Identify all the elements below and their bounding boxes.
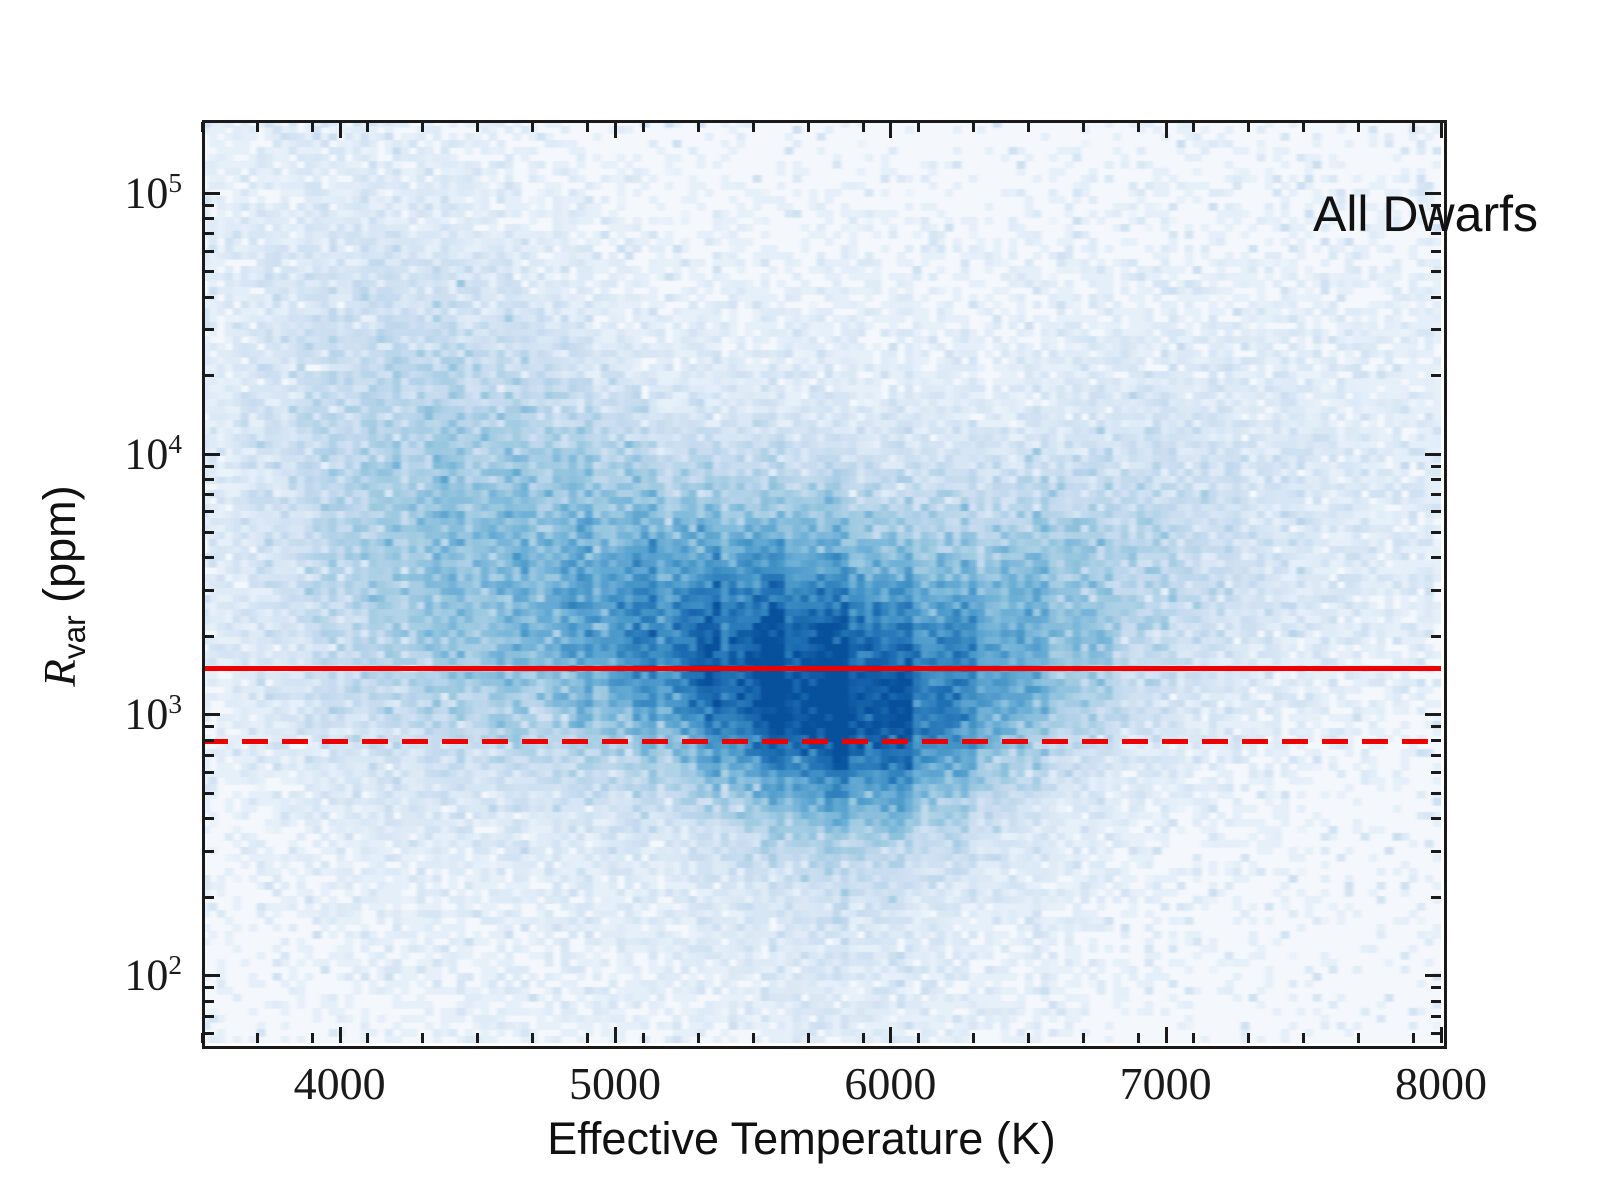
x-tick-major xyxy=(339,1027,342,1043)
y-tick-minor-right xyxy=(1431,478,1441,481)
y-tick-minor-right xyxy=(1431,817,1441,820)
y-tick-minor xyxy=(204,478,214,481)
y-tick-minor xyxy=(204,296,214,299)
y-axis-title-symbol: R xyxy=(35,659,85,687)
x-tick-minor-top xyxy=(201,122,204,132)
x-tick-label: 8000 xyxy=(1395,1057,1487,1110)
y-tick-minor xyxy=(204,250,214,253)
x-tick-minor xyxy=(1412,1033,1415,1043)
x-tick-minor xyxy=(1137,1033,1140,1043)
x-tick-minor xyxy=(642,1033,645,1043)
y-tick-minor xyxy=(204,1000,214,1003)
x-tick-major-top xyxy=(1440,122,1443,138)
y-tick-minor xyxy=(204,986,214,989)
x-tick-minor-top xyxy=(917,122,920,132)
y-tick-major xyxy=(204,974,220,977)
y-tick-minor xyxy=(204,771,214,774)
all-dwarfs-annotation: All Dwarfs xyxy=(1313,185,1538,243)
x-tick-minor-top xyxy=(531,122,534,132)
y-tick-minor-right xyxy=(1431,465,1441,468)
x-tick-major xyxy=(1165,1027,1168,1043)
x-tick-minor xyxy=(311,1033,314,1043)
plot-area xyxy=(202,120,1441,1043)
y-tick-minor xyxy=(204,850,214,853)
y-tick-minor xyxy=(204,465,214,468)
x-tick-minor-top xyxy=(1302,122,1305,132)
x-tick-major xyxy=(1440,1027,1443,1043)
y-tick-minor xyxy=(204,531,214,534)
x-tick-minor xyxy=(1247,1033,1250,1043)
x-tick-minor-top xyxy=(1027,122,1030,132)
y-tick-minor xyxy=(204,493,214,496)
y-tick-minor-right xyxy=(1431,1000,1441,1003)
x-tick-minor-top xyxy=(697,122,700,132)
x-tick-minor xyxy=(531,1033,534,1043)
y-tick-minor xyxy=(204,232,214,235)
y-tick-label: 103 xyxy=(2,689,182,740)
x-tick-minor-top xyxy=(972,122,975,132)
x-axis-title: Effective Temperature (K) xyxy=(0,1113,1603,1165)
y-tick-minor-right xyxy=(1431,589,1441,592)
x-tick-minor xyxy=(752,1033,755,1043)
x-tick-minor-top xyxy=(1192,122,1195,132)
y-tick-minor xyxy=(204,270,214,273)
x-tick-minor-top xyxy=(1357,122,1360,132)
y-tick-minor-right xyxy=(1431,510,1441,513)
y-tick-minor-right xyxy=(1431,556,1441,559)
y-tick-minor xyxy=(204,510,214,513)
y-tick-minor-right xyxy=(1431,754,1441,757)
y-tick-minor xyxy=(204,217,214,220)
y-tick-major-right xyxy=(1425,453,1441,456)
y-tick-minor-right xyxy=(1431,374,1441,377)
y-tick-minor-right xyxy=(1431,270,1441,273)
y-tick-label: 102 xyxy=(2,950,182,1001)
x-tick-minor xyxy=(366,1033,369,1043)
y-tick-minor-right xyxy=(1431,635,1441,638)
y-tick-minor-right xyxy=(1431,531,1441,534)
x-tick-minor xyxy=(1027,1033,1030,1043)
x-tick-minor xyxy=(256,1033,259,1043)
x-tick-minor-top xyxy=(807,122,810,132)
y-tick-major-right xyxy=(1425,713,1441,716)
y-tick-label: 105 xyxy=(2,167,182,218)
x-tick-major xyxy=(889,1027,892,1043)
y-tick-exponent: 3 xyxy=(168,689,182,719)
x-tick-minor xyxy=(697,1033,700,1043)
x-tick-minor xyxy=(1082,1033,1085,1043)
x-tick-minor-top xyxy=(752,122,755,132)
y-tick-minor-right xyxy=(1431,850,1441,853)
y-tick-minor xyxy=(204,328,214,331)
y-axis-title: Rvar (ppm) xyxy=(34,286,86,886)
x-tick-major-top xyxy=(1165,122,1168,138)
x-tick-major-top xyxy=(339,122,342,138)
x-tick-major-top xyxy=(614,122,617,138)
x-tick-minor-top xyxy=(1082,122,1085,132)
y-tick-exponent: 5 xyxy=(168,168,182,198)
y-tick-minor-right xyxy=(1431,792,1441,795)
y-tick-minor-right xyxy=(1431,250,1441,253)
y-axis-title-unit: (ppm) xyxy=(34,485,85,615)
y-axis-title-subscript: var xyxy=(56,615,92,659)
y-tick-minor xyxy=(204,374,214,377)
x-tick-minor xyxy=(917,1033,920,1043)
y-tick-minor-right xyxy=(1431,1015,1441,1018)
y-tick-minor-right xyxy=(1431,986,1441,989)
y-tick-mantissa: 10 xyxy=(124,168,168,217)
y-tick-mantissa: 10 xyxy=(124,429,168,478)
x-tick-major xyxy=(614,1027,617,1043)
y-tick-exponent: 2 xyxy=(168,950,182,980)
y-tick-major-right xyxy=(1425,974,1441,977)
x-tick-minor xyxy=(1357,1033,1360,1043)
x-tick-minor-top xyxy=(476,122,479,132)
x-tick-label: 6000 xyxy=(844,1057,936,1110)
x-tick-minor-top xyxy=(366,122,369,132)
y-tick-minor-right xyxy=(1431,771,1441,774)
y-tick-minor-right xyxy=(1431,493,1441,496)
x-tick-minor xyxy=(421,1033,424,1043)
x-tick-minor-top xyxy=(256,122,259,132)
x-tick-minor xyxy=(972,1033,975,1043)
y-tick-minor xyxy=(204,635,214,638)
x-tick-major-top xyxy=(889,122,892,138)
y-tick-minor xyxy=(204,1032,214,1035)
x-tick-label: 4000 xyxy=(294,1057,386,1110)
y-tick-minor xyxy=(204,792,214,795)
y-tick-minor xyxy=(204,725,214,728)
x-tick-minor-top xyxy=(311,122,314,132)
x-tick-minor xyxy=(862,1033,865,1043)
y-tick-minor xyxy=(204,896,214,899)
x-tick-minor-top xyxy=(586,122,589,132)
y-tick-minor-right xyxy=(1431,296,1441,299)
x-tick-minor xyxy=(807,1033,810,1043)
y-tick-exponent: 4 xyxy=(168,428,182,458)
y-tick-minor xyxy=(204,739,214,742)
x-tick-minor-top xyxy=(1247,122,1250,132)
y-tick-major xyxy=(204,192,220,195)
x-tick-label: 5000 xyxy=(569,1057,661,1110)
y-tick-major xyxy=(204,713,220,716)
y-tick-minor xyxy=(204,1015,214,1018)
x-tick-minor xyxy=(201,1033,204,1043)
y-tick-minor xyxy=(204,204,214,207)
density-heatmap xyxy=(202,120,1441,1043)
x-tick-minor-top xyxy=(862,122,865,132)
y-tick-label: 104 xyxy=(2,428,182,479)
x-tick-minor xyxy=(1192,1033,1195,1043)
x-tick-label: 7000 xyxy=(1120,1057,1212,1110)
y-tick-minor xyxy=(204,556,214,559)
y-tick-minor-right xyxy=(1431,896,1441,899)
x-tick-minor-top xyxy=(1137,122,1140,132)
y-tick-minor-right xyxy=(1431,739,1441,742)
y-tick-minor-right xyxy=(1431,725,1441,728)
y-tick-minor xyxy=(204,754,214,757)
y-tick-minor-right xyxy=(1431,328,1441,331)
y-tick-mantissa: 10 xyxy=(124,690,168,739)
x-tick-minor-top xyxy=(421,122,424,132)
y-tick-mantissa: 10 xyxy=(124,951,168,1000)
x-tick-minor-top xyxy=(1412,122,1415,132)
y-tick-minor xyxy=(204,589,214,592)
x-tick-minor-top xyxy=(642,122,645,132)
y-tick-minor xyxy=(204,817,214,820)
x-tick-minor xyxy=(586,1033,589,1043)
y-tick-major xyxy=(204,453,220,456)
x-tick-minor xyxy=(476,1033,479,1043)
figure-root: 10210310410540005000600070008000 All Dwa… xyxy=(0,0,1603,1203)
x-tick-minor xyxy=(1302,1033,1305,1043)
